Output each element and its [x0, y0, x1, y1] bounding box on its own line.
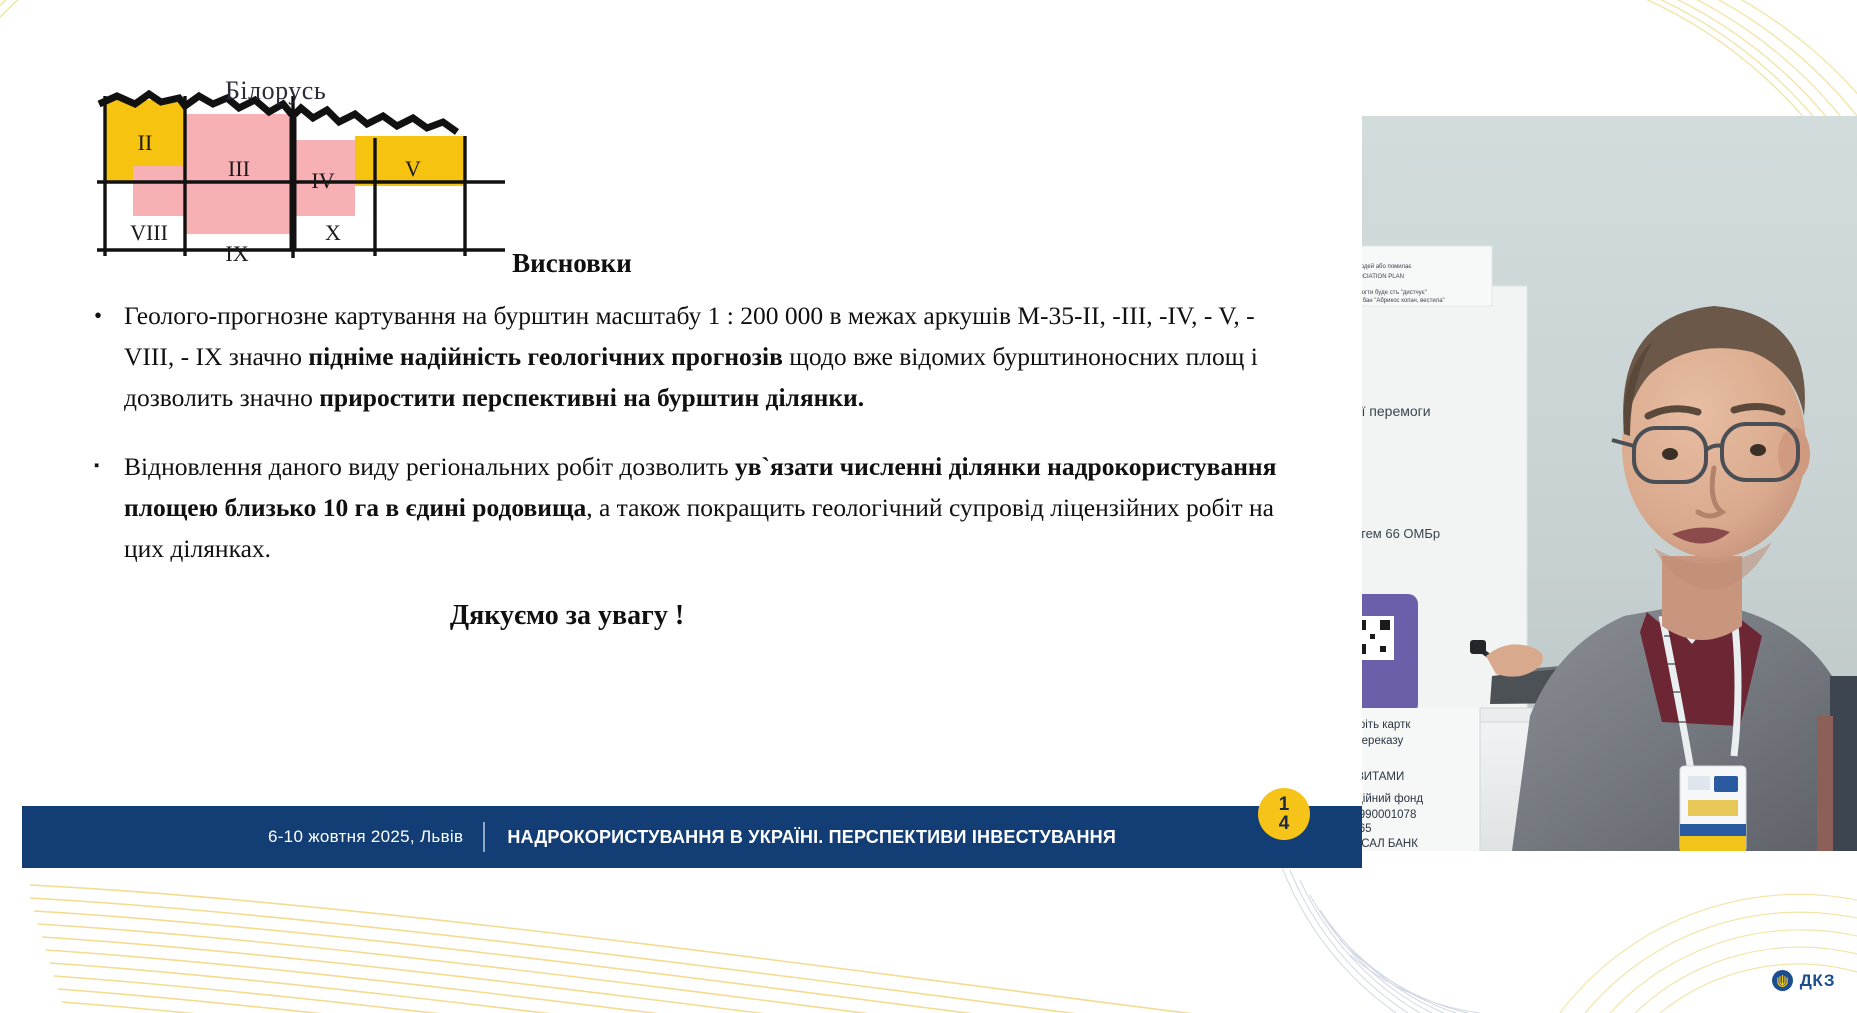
- bullet-list: • Геолого-прогнозне картування на буршти…: [88, 295, 1308, 597]
- page-number-badge: 1 4: [1258, 788, 1310, 840]
- banner-event-title: НАДРОКОРИСТУВАННЯ В УКРАЇНІ. ПЕРСПЕКТИВИ…: [485, 827, 1116, 848]
- bullet-marker-dot: •: [88, 295, 124, 336]
- svg-text:е помогти буде стъ "дистчує": е помогти буде стъ "дистчує": [1362, 290, 1427, 296]
- svg-text:ЕРСАЛ БАНК: ЕРСАЛ БАНК: [1362, 838, 1418, 850]
- map-label-IV: IV: [311, 168, 334, 193]
- speaker-video-frame: ної людей або помилає ASSOCIATION PLAN е…: [1362, 116, 1857, 851]
- bullet-item-1: • Геолого-прогнозне картування на буршти…: [88, 295, 1308, 418]
- presentation-slide: Білорусь II III IV V VIII: [22, 0, 1362, 868]
- slide-title: Висновки: [22, 248, 1122, 279]
- svg-text:беріть картк: беріть картк: [1362, 719, 1411, 731]
- bullet-marker-square: ▪: [88, 446, 124, 487]
- arc-group-bottom-right-fan: [1560, 894, 1857, 1013]
- arc-group-bottom-left-fan: [1280, 862, 1480, 1013]
- svg-text:годійний фонд: годійний фонд: [1362, 793, 1423, 805]
- bullet-item-2: ▪ Відновлення даного виду регіональних р…: [88, 446, 1308, 569]
- svg-text:ної перемоги: ної перемоги: [1362, 403, 1431, 419]
- slide-footer-banner: 6-10 жовтня 2025, Львів НАДРОКОРИСТУВАНН…: [22, 806, 1362, 868]
- thank-you-text: Дякуємо за увагу !: [22, 600, 1112, 632]
- map-label-II: II: [138, 130, 153, 155]
- map-caption-belarus: Білорусь: [225, 76, 326, 106]
- svg-text:ASSOCIATION PLAN: ASSOCIATION PLAN: [1362, 274, 1404, 280]
- svg-text:ая ий бан "Абрикос копач, вест: ая ий бан "Абрикос копач, вестила": [1362, 297, 1445, 304]
- map-label-X: X: [325, 220, 341, 245]
- trident-emblem-icon: [1772, 970, 1793, 991]
- svg-text:05990001078: 05990001078: [1362, 809, 1416, 821]
- map-label-V: V: [405, 156, 421, 181]
- svg-text:9465: 9465: [1362, 823, 1372, 835]
- map-label-VIII: VIII: [130, 220, 168, 245]
- corner-brand-logo: ДКЗ: [1772, 970, 1835, 991]
- page-number-digit-top: 1: [1279, 795, 1290, 814]
- bullet-text-1: Геолого-прогнозне картування на бурштин …: [124, 295, 1308, 418]
- svg-text:истем 66 ОМБр: истем 66 ОМБр: [1362, 526, 1440, 541]
- corner-logo-text: ДКЗ: [1800, 971, 1835, 991]
- page-number-digit-bottom: 4: [1279, 814, 1290, 833]
- svg-text:ної людей або помилає: ної людей або помилає: [1362, 263, 1411, 270]
- bullet-text-2: Відновлення даного виду регіональних роб…: [124, 446, 1308, 569]
- speaker-video-panel[interactable]: ної людей або помилає ASSOCIATION PLAN е…: [1362, 116, 1857, 851]
- svg-text:я переказу: я переказу: [1362, 735, 1404, 747]
- banner-date-location: 6-10 жовтня 2025, Львів: [268, 827, 483, 847]
- map-label-III: III: [228, 156, 250, 181]
- arc-group-bottom: [30, 885, 1592, 1013]
- svg-text:ВІЗИТАМИ: ВІЗИТАМИ: [1362, 771, 1404, 783]
